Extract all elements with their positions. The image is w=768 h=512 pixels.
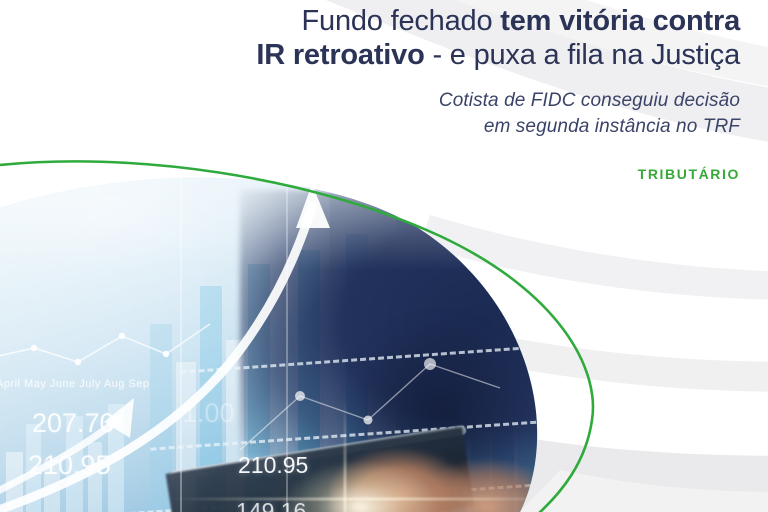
headline-line2-regular: - e puxa a fila na Justiça [425, 39, 740, 71]
photo-month-axis-labels: April May June July Aug Sep [0, 378, 150, 390]
article-text-block: Fundo fechado tem vitória contra IR retr… [120, 0, 740, 182]
headline-line1-regular: Fundo fechado [302, 5, 501, 37]
headline-line2-bold: IR retroativo [256, 39, 424, 71]
headline-line1-bold: tem vitória contra [500, 5, 740, 37]
subtitle-line2: em segunda instância no TRF [120, 114, 740, 140]
photo-value-top: 207.70 [32, 408, 115, 439]
photo-value-tablet: 210.95 [238, 452, 308, 479]
category-tag[interactable]: TRIBUTÁRIO [120, 140, 740, 182]
hero-photo: April May June July Aug Sep 207.70 210.9… [0, 150, 620, 512]
photo-flare-vertical [344, 400, 346, 512]
article-card: April May June July Aug Sep 207.70 210.9… [0, 0, 768, 512]
photo-value-mid: 210.95 [28, 450, 111, 481]
photo-flare-streak [170, 498, 570, 500]
subtitle-line1: Cotista de FIDC conseguiu decisão [120, 88, 740, 114]
page-subtitle: Cotista de FIDC conseguiu decisão em seg… [120, 72, 740, 139]
page-title: Fundo fechado tem vitória contra IR retr… [120, 0, 740, 72]
photo-value-bottom: 149.16 [236, 498, 306, 512]
photo-value-ghost: 1.00 [182, 398, 235, 429]
